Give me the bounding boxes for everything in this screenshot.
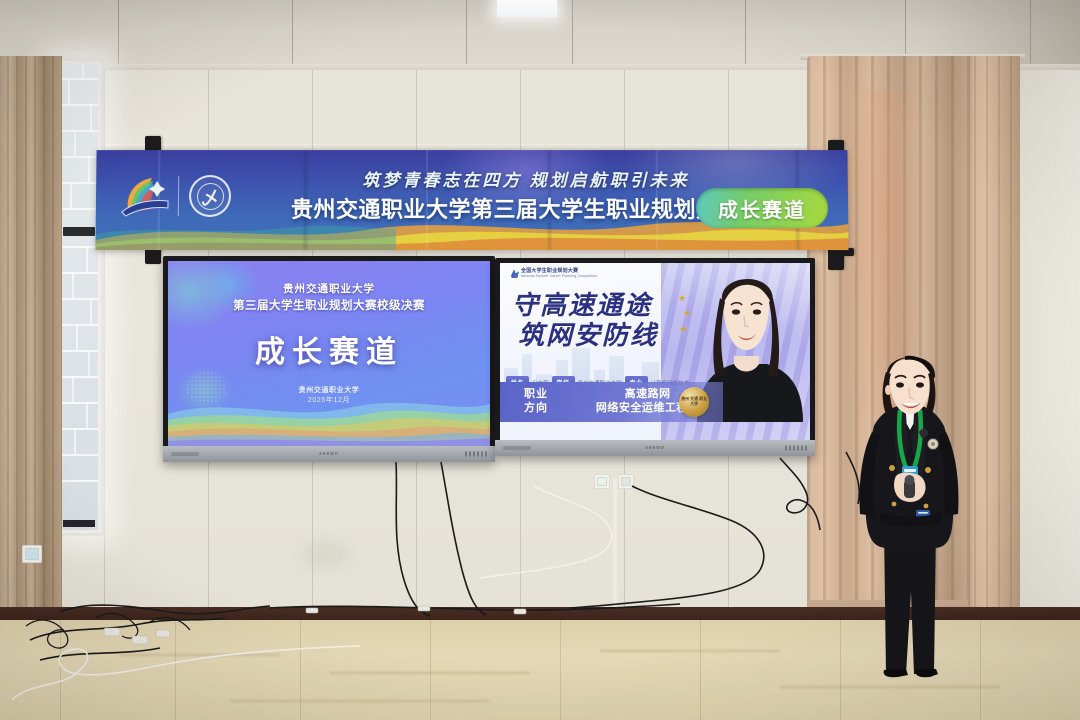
ceiling-light: [497, 0, 557, 17]
right-slide: 全国大学生职业规划大赛 National Student Career Plan…: [500, 263, 810, 440]
competition-emblem-icon: [120, 172, 172, 220]
university-seal-icon: 乄: [189, 175, 231, 217]
right-display-screen[interactable]: 全国大学生职业规划大赛 National Student Career Plan…: [500, 263, 810, 440]
career-direction-bar: 职业 方向 高速路网 网络安全运维工程师 贵州 交通 职业 大学: [500, 382, 723, 422]
competition-logo: 全国大学生职业规划大赛 National Student Career Plan…: [511, 269, 597, 278]
window-blind: [63, 227, 95, 236]
career-direction-label: 职业 方向: [500, 388, 572, 416]
right-display-brand: seewo: [645, 445, 664, 451]
event-banner: 乄 筑梦青春志在四方 规划启航职引未来 贵州交通职业大学第三届大学生职业规划大赛…: [95, 150, 848, 250]
track-badge-label: 成长赛道: [718, 194, 806, 223]
right-display[interactable]: 全国大学生职业规划大赛 National Student Career Plan…: [495, 258, 815, 456]
medal-seal-text: 贵州 交通 职业 大学: [679, 397, 709, 406]
left-slide-line2: 第三届大学生职业规划大赛校级决赛: [168, 297, 490, 313]
banner-slogan: 筑梦青春志在四方 规划启航职引未来: [271, 166, 781, 191]
right-display-bezel: seewo: [495, 440, 815, 456]
room-photo: 乄 筑梦青春志在四方 规划启航职引未来 贵州交通职业大学第三届大学生职业规划大赛…: [0, 0, 1080, 720]
medal-seal-icon: 贵州 交通 职业 大学: [679, 387, 709, 417]
left-display[interactable]: 贵州交通职业大学 第三届大学生职业规划大赛校级决赛 成长赛道 贵州交通职业大学 …: [163, 256, 495, 462]
left-display-bezel: seewo: [163, 446, 495, 462]
outlet-left-low[interactable]: [22, 545, 42, 563]
window-glass: [60, 64, 98, 530]
competition-logo-en: National Student Career Planning Competi…: [521, 275, 597, 279]
outlet-center-black[interactable]: [618, 474, 634, 489]
seal-glyph: 乄: [196, 183, 223, 210]
left-slide: 贵州交通职业大学 第三届大学生职业规划大赛校级决赛 成长赛道 贵州交通职业大学 …: [168, 261, 490, 446]
slide-wave-graphic: [168, 388, 490, 446]
career-label-line2: 方向: [500, 402, 572, 416]
competition-logo-icon: [511, 269, 519, 278]
presenter: [848, 352, 972, 678]
right-slide-title-line2: 筑网安防线: [518, 315, 658, 352]
track-badge: 成长赛道: [696, 188, 828, 228]
left-display-brand: seewo: [319, 451, 338, 457]
left-display-screen[interactable]: 贵州交通职业大学 第三届大学生职业规划大赛校级决赛 成长赛道 贵州交通职业大学 …: [168, 261, 490, 446]
right-wall-section: [1018, 70, 1080, 630]
left-slide-headline: 成长赛道: [168, 327, 490, 371]
conduit-strip: [613, 478, 617, 608]
outlet-center-white[interactable]: [594, 474, 610, 489]
career-label-line1: 职业: [500, 388, 572, 402]
left-slide-line1: 贵州交通职业大学: [168, 281, 490, 296]
